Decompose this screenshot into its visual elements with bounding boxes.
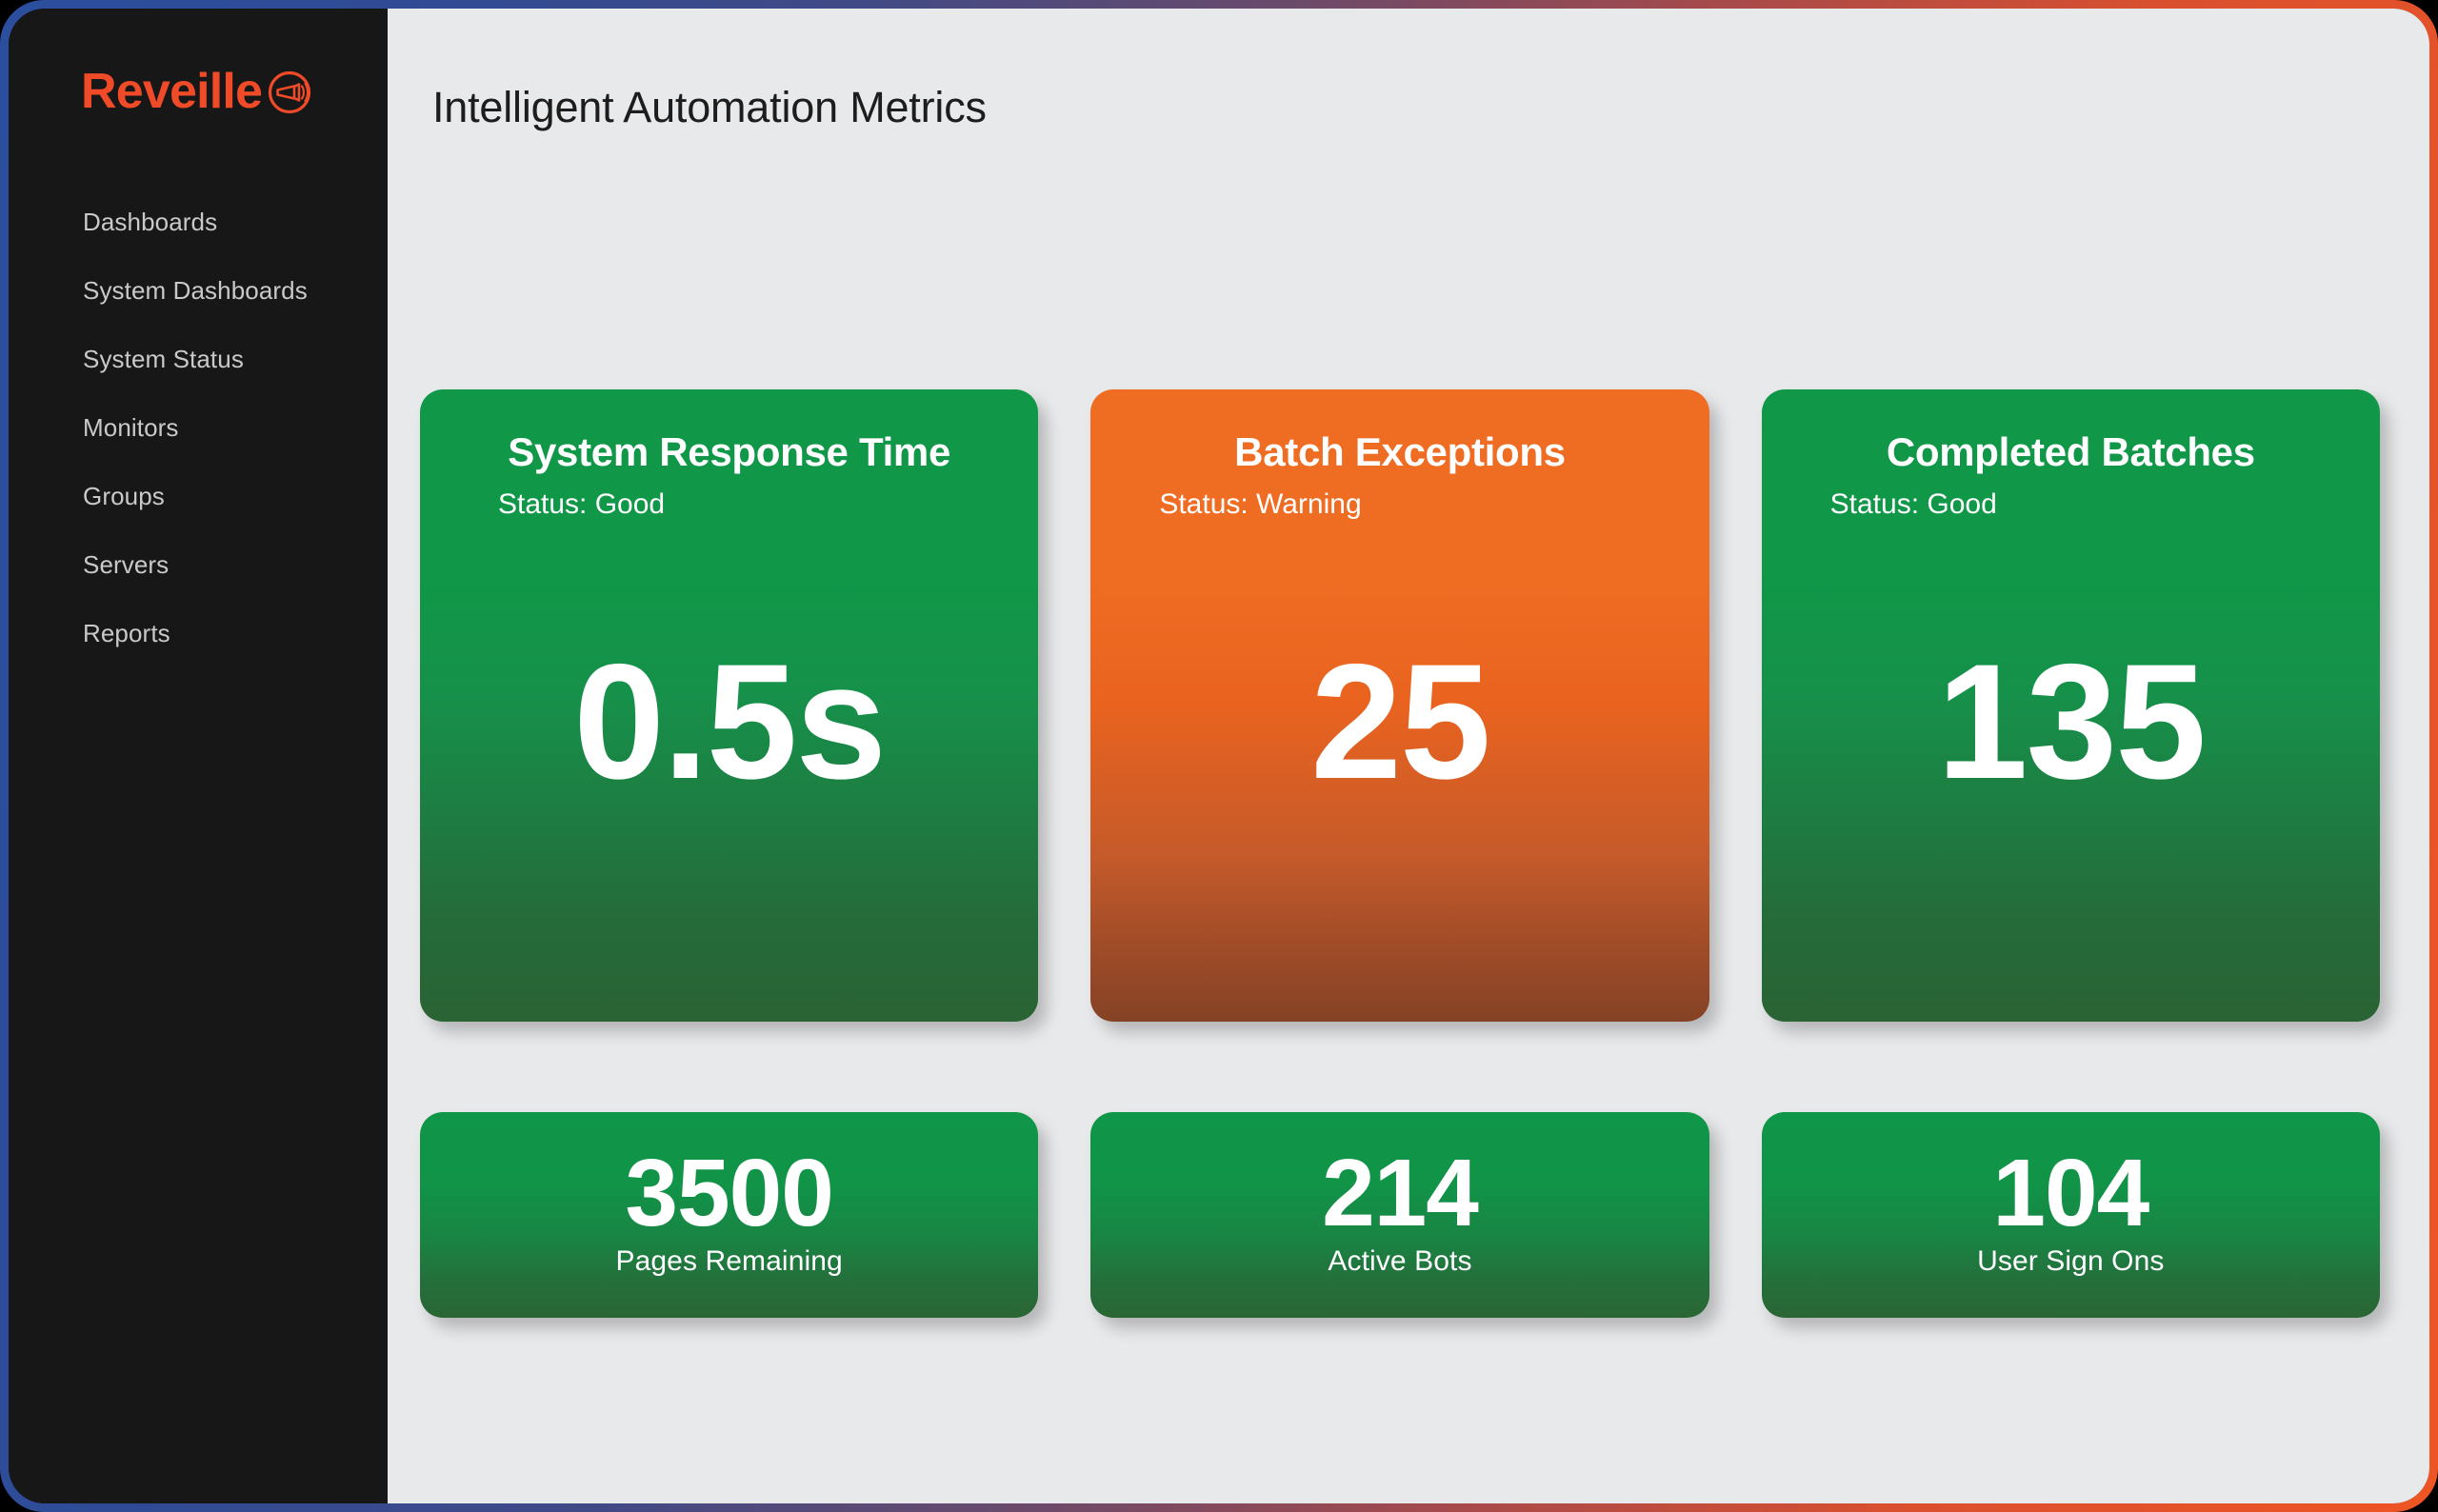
- bugle-circle-icon: [266, 69, 313, 121]
- device-frame: Reveille Dashboards System Dashbo: [0, 0, 2438, 1512]
- card-value: 0.5s: [420, 521, 1038, 1022]
- counter-card-row: 3500 Pages Remaining 214 Active Bots 104…: [420, 1112, 2380, 1318]
- status-badge: Status: Good: [1762, 488, 2380, 521]
- sidebar-nav: Dashboards System Dashboards System Stat…: [9, 188, 388, 667]
- brand-logo[interactable]: Reveille: [9, 54, 388, 129]
- counter-value: 214: [1322, 1146, 1478, 1240]
- sidebar-item-servers[interactable]: Servers: [9, 530, 388, 599]
- card-value: 25: [1090, 521, 1709, 1022]
- status-card-completed-batches[interactable]: Completed Batches Status: Good 135: [1762, 389, 2380, 1022]
- status-card-batch-exceptions[interactable]: Batch Exceptions Status: Warning 25: [1090, 389, 1709, 1022]
- sidebar-item-system-dashboards[interactable]: System Dashboards: [9, 256, 388, 325]
- sidebar-item-monitors[interactable]: Monitors: [9, 393, 388, 462]
- counter-label: Active Bots: [1328, 1245, 1471, 1278]
- counter-label: User Sign Ons: [1977, 1245, 2164, 1278]
- counter-value: 104: [1992, 1146, 2148, 1240]
- metrics-grid: System Response Time Status: Good 0.5s B…: [420, 389, 2380, 1318]
- sidebar-item-label: System Status: [83, 345, 244, 374]
- main-content: Intelligent Automation Metrics System Re…: [388, 9, 2429, 1503]
- sidebar-item-label: Reports: [83, 619, 170, 648]
- status-card-system-response-time[interactable]: System Response Time Status: Good 0.5s: [420, 389, 1038, 1022]
- status-card-row: System Response Time Status: Good 0.5s B…: [420, 389, 2380, 1022]
- brand-wordmark: Reveille: [81, 67, 262, 116]
- card-title: Completed Batches: [1762, 431, 2380, 473]
- sidebar-item-label: Monitors: [83, 413, 179, 443]
- sidebar-item-label: System Dashboards: [83, 276, 308, 306]
- status-badge: Status: Warning: [1090, 488, 1709, 521]
- sidebar: Reveille Dashboards System Dashbo: [9, 9, 388, 1503]
- status-badge: Status: Good: [420, 488, 1038, 521]
- device-screen: Reveille Dashboards System Dashbo: [9, 9, 2429, 1503]
- counter-card-active-bots[interactable]: 214 Active Bots: [1090, 1112, 1709, 1318]
- counter-label: Pages Remaining: [616, 1245, 843, 1278]
- page-title: Intelligent Automation Metrics: [432, 83, 987, 132]
- card-title: Batch Exceptions: [1090, 431, 1709, 473]
- sidebar-item-reports[interactable]: Reports: [9, 599, 388, 667]
- counter-value: 3500: [625, 1146, 832, 1240]
- sidebar-item-label: Servers: [83, 550, 169, 580]
- sidebar-item-groups[interactable]: Groups: [9, 462, 388, 530]
- counter-card-user-sign-ons[interactable]: 104 User Sign Ons: [1762, 1112, 2380, 1318]
- counter-card-pages-remaining[interactable]: 3500 Pages Remaining: [420, 1112, 1038, 1318]
- card-value: 135: [1762, 521, 2380, 1022]
- card-title: System Response Time: [420, 431, 1038, 473]
- sidebar-item-label: Groups: [83, 482, 165, 511]
- sidebar-item-label: Dashboards: [83, 208, 217, 237]
- sidebar-item-dashboards[interactable]: Dashboards: [9, 188, 388, 256]
- sidebar-item-system-status[interactable]: System Status: [9, 325, 388, 393]
